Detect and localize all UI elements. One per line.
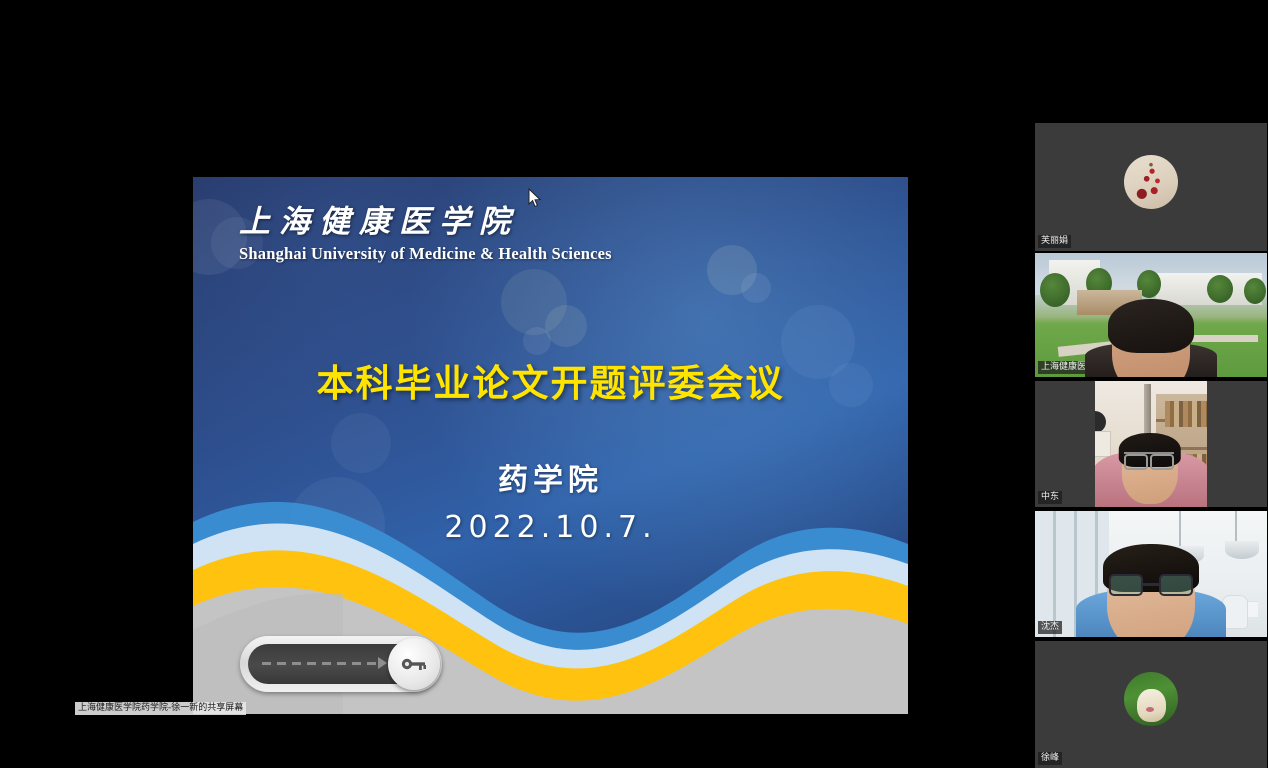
participant-tile[interactable]: 中东 [1035,381,1267,507]
video-pillarbox-left [1035,381,1095,507]
participant-name: 芙丽娟 [1038,235,1071,248]
participant-tile[interactable]: 徐峰 [1035,641,1267,768]
bokeh-circle [523,327,551,355]
speaker-hair [1108,299,1194,353]
participant-name: 沈杰 [1038,621,1062,634]
bokeh-circle [545,305,587,347]
participant-video [1035,381,1267,507]
participant-tile[interactable]: 芙丽娟 [1035,123,1267,251]
participant-filmstrip[interactable]: 芙丽娟 上海健康医 [1034,0,1268,768]
share-source-label: 上海健康医学院药学院-徐一新的共享屏幕 [75,702,246,715]
participant-tile[interactable]: 上海健康医学院药学院-徐一新 [1035,253,1267,377]
avatar [1124,672,1178,726]
glasses-icon [1109,574,1193,596]
slider-arrowhead-icon [378,657,387,669]
logo-english-name: Shanghai University of Medicine & Health… [239,244,859,264]
video-pillarbox-right [1207,381,1267,507]
bokeh-circle [741,273,771,303]
conference-screen: 上海健康医学院 Shanghai University of Medicine … [0,0,1268,768]
participant-video [1035,253,1267,377]
presentation-slide[interactable]: 上海健康医学院 Shanghai University of Medicine … [193,177,908,714]
shared-screen-region[interactable]: 上海健康医学院 Shanghai University of Medicine … [0,0,1034,768]
avatar-image-dog [1124,672,1178,726]
slider-dashed-arrow [262,662,380,665]
participant-video [1035,511,1267,637]
unlock-slider-graphic [240,636,442,692]
key-icon [401,656,427,672]
logo-chinese-name: 上海健康医学院 [239,203,859,240]
university-logo: 上海健康医学院 Shanghai University of Medicine … [239,203,859,264]
participant-tile[interactable]: 沈杰 [1035,511,1267,637]
participant-name: 中东 [1038,491,1062,504]
avatar [1124,155,1178,209]
glasses-icon [1124,452,1174,464]
participant-name: 徐峰 [1038,752,1062,765]
avatar-image-flowers [1124,155,1178,209]
bokeh-circle [501,269,567,335]
mouse-cursor [528,188,542,208]
slider-knob [388,638,440,690]
